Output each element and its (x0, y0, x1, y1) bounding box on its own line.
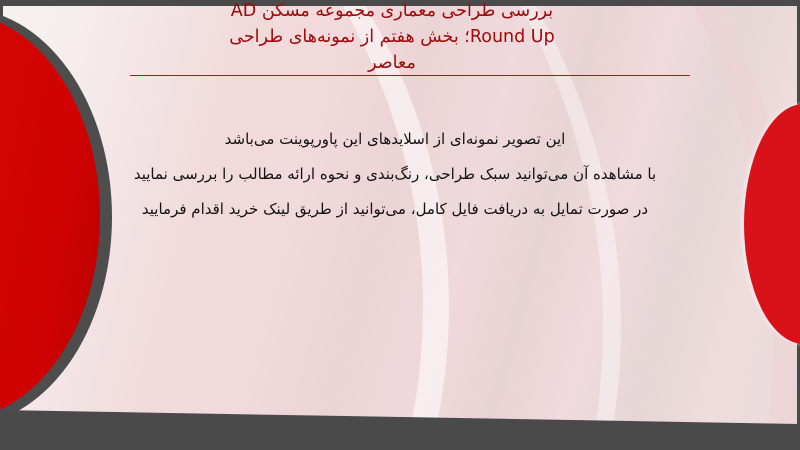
body-line-2: با مشاهده آن می‌توانید سبک طراحی، رنگ‌بن… (85, 157, 705, 192)
title-divider-line (130, 75, 690, 76)
title-line-3: معاصر (92, 50, 692, 76)
title-line-2: Round Up؛ بخش هفتم از نمونه‌های طراحی (92, 24, 692, 50)
slide-title: بررسی طراحی معماری مجموعه مسکن AD Round … (92, 0, 692, 76)
slide-body-text: این تصویر نمونه‌ای از اسلایدهای این پاور… (85, 122, 705, 227)
title-line-1: بررسی طراحی معماری مجموعه مسکن AD (92, 0, 692, 24)
slide-canvas: بررسی طراحی معماری مجموعه مسکن AD Round … (0, 0, 800, 450)
body-line-1: این تصویر نمونه‌ای از اسلایدهای این پاور… (85, 122, 705, 157)
slide-content: بررسی طراحی معماری مجموعه مسکن AD Round … (0, 0, 800, 450)
body-line-3: در صورت تمایل به دریافت فایل کامل، می‌تو… (85, 192, 705, 227)
